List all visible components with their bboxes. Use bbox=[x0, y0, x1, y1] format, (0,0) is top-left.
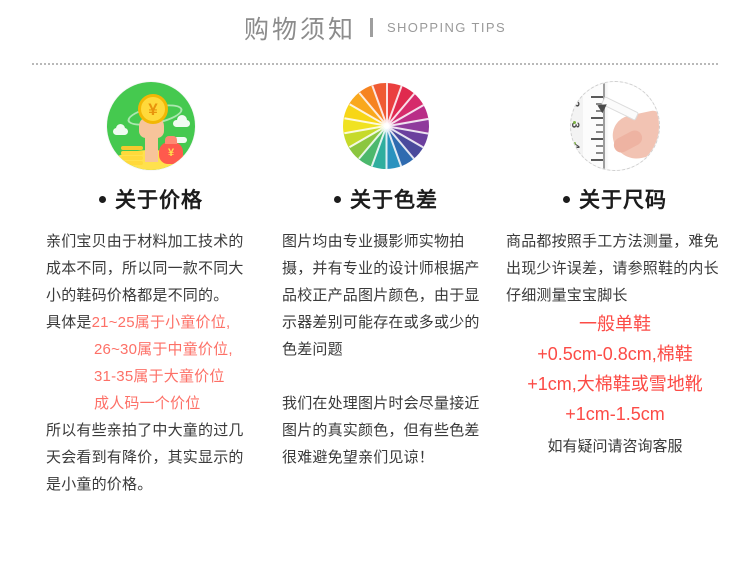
heading-text: 关于色差 bbox=[350, 189, 438, 212]
color-wheel-icon bbox=[343, 83, 429, 169]
color-icon-wrap bbox=[282, 74, 490, 178]
size-red-line-3: +1cm,大棉鞋或雪地靴 bbox=[506, 369, 724, 399]
price-red-line-2: 26~30属于中童价位, bbox=[46, 336, 256, 363]
column-heading-size: 关于尺码 bbox=[506, 184, 724, 214]
bullet-dot-icon bbox=[334, 196, 341, 203]
column-heading-price: 关于价格 bbox=[46, 184, 256, 214]
color-paragraph-2: 我们在处理图片时会尽量接近图片的真实颜色，但有些色差很难避免望亲们见谅！ bbox=[282, 390, 490, 471]
price-red-line-1: 具体是21~25属于小童价位, bbox=[46, 309, 256, 336]
price-red-line-4: 成人码一个价位 bbox=[46, 390, 256, 417]
color-paragraph-1: 图片均由专业摄影师实物拍摄，并有专业的设计师根据产品校正产品图片颜色，由于显示器… bbox=[282, 228, 490, 363]
page-title-en: SHOPPING TIPS bbox=[387, 20, 506, 35]
price-icon-wrap: ¥ ¥ bbox=[46, 74, 256, 178]
cloud-icon bbox=[113, 128, 128, 135]
page-title-cn: 购物须知 bbox=[244, 10, 356, 46]
ruler-body bbox=[583, 82, 605, 170]
price-red-text-1: 21~25属于小童价位, bbox=[92, 314, 231, 331]
size-icon-wrap: 2 3 4 bbox=[506, 74, 724, 178]
money-bag-icon: ¥ bbox=[159, 142, 183, 164]
price-paragraph-1: 亲们宝贝由于材料加工技术的成本不同，所以同一款不同大小的鞋码价格都是不同的。 bbox=[46, 228, 256, 309]
bullet-dot-icon bbox=[99, 196, 106, 203]
header-divider bbox=[32, 63, 718, 65]
tips-column-price: ¥ ¥ 关于价格 亲们宝贝由于材料加工技术的成本不同，所以同一款不同大小的鞋码价… bbox=[24, 74, 258, 498]
page-header: 购物须知 SHOPPING TIPS bbox=[0, 0, 750, 55]
heading-text: 关于价格 bbox=[115, 189, 203, 212]
bullet-dot-icon bbox=[563, 196, 570, 203]
size-red-block: 一般单鞋 +0.5cm-0.8cm,棉鞋 +1cm,大棉鞋或雪地靴 +1cm-1… bbox=[506, 309, 724, 429]
ruler-measure-icon: 2 3 4 bbox=[570, 81, 660, 171]
tips-column-color: 关于色差 图片均由专业摄影师实物拍摄，并有专业的设计师根据产品校正产品图片颜色，… bbox=[258, 74, 492, 498]
column-heading-color: 关于色差 bbox=[282, 184, 490, 214]
title-separator bbox=[370, 18, 373, 37]
size-red-line-4: +1cm-1.5cm bbox=[506, 399, 724, 429]
spacer bbox=[282, 363, 490, 390]
tips-columns: ¥ ¥ 关于价格 亲们宝贝由于材料加工技术的成本不同，所以同一款不同大小的鞋码价… bbox=[0, 74, 750, 498]
price-prefix: 具体是 bbox=[46, 314, 92, 331]
heading-text: 关于尺码 bbox=[579, 189, 667, 212]
price-red-line-3: 31-35属于大童价位 bbox=[46, 363, 256, 390]
tips-column-size: 2 3 4 关于尺码 商品都按照手工方法测量，难免出现少许误差，请参照鞋的内长仔… bbox=[492, 74, 726, 498]
cloud-icon bbox=[173, 120, 190, 127]
price-red-block: 具体是21~25属于小童价位, 26~30属于中童价位, 31-35属于大童价位… bbox=[46, 309, 256, 417]
yuan-coin-icon: ¥ bbox=[138, 94, 168, 124]
size-red-line-2: +0.5cm-0.8cm,棉鞋 bbox=[506, 339, 724, 369]
size-paragraph-1: 商品都按照手工方法测量，难免出现少许误差，请参照鞋的内长仔细测量宝宝脚长 bbox=[506, 228, 724, 309]
price-paragraph-2: 所以有些亲拍了中大童的过几天会看到有降价，其实显示的是小童的价格。 bbox=[46, 417, 256, 498]
size-red-line-1: 一般单鞋 bbox=[506, 309, 724, 339]
size-note: 如有疑问请咨询客服 bbox=[506, 433, 724, 461]
price-money-icon: ¥ ¥ bbox=[107, 82, 195, 170]
shopping-tips-page: 购物须知 SHOPPING TIPS ¥ ¥ bbox=[0, 0, 750, 586]
coin-stack-icon bbox=[121, 161, 143, 165]
